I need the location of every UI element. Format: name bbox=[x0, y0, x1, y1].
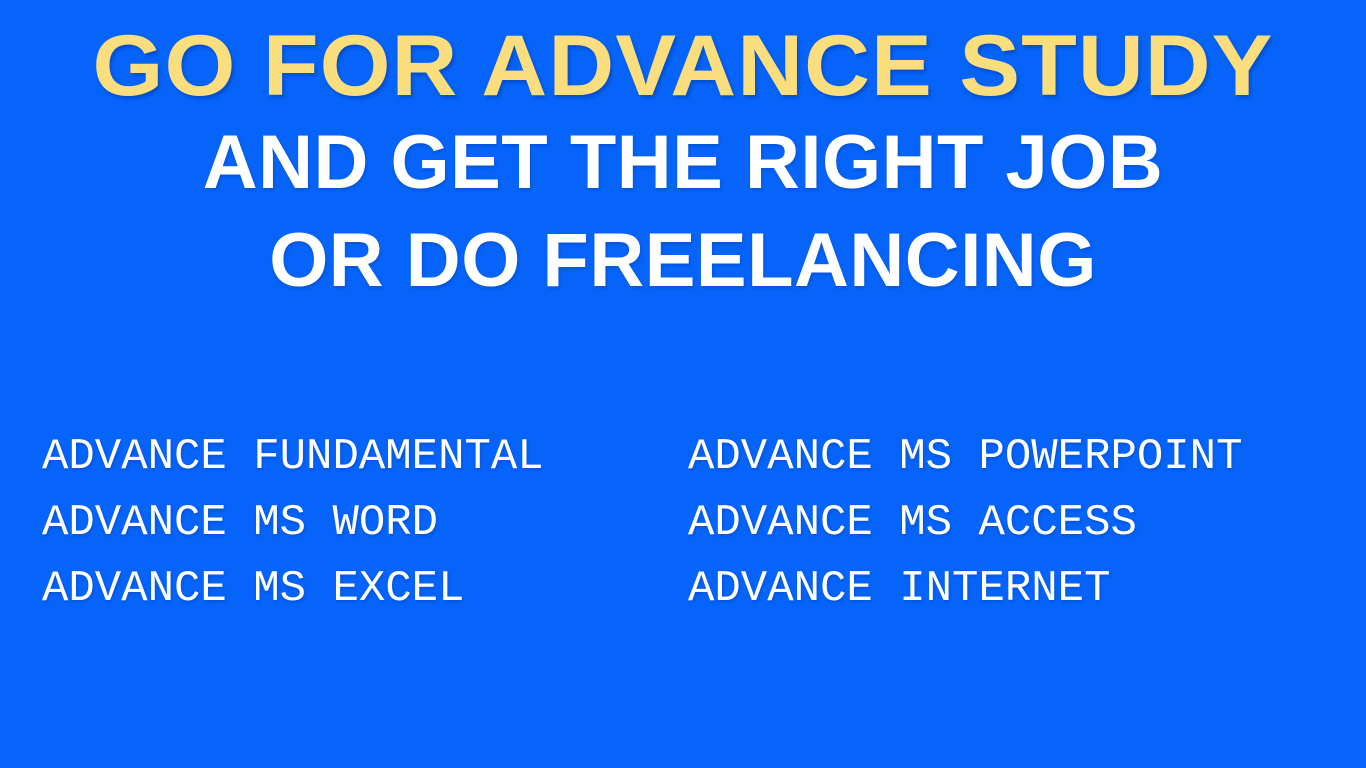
headline-secondary-line-2: OR DO FREELANCING bbox=[0, 212, 1366, 310]
course-item: ADVANCE FUNDAMENTAL bbox=[42, 424, 688, 490]
course-item: ADVANCE MS ACCESS bbox=[688, 490, 1332, 556]
slide-canvas: GO FOR ADVANCE STUDY AND GET THE RIGHT J… bbox=[0, 0, 1366, 768]
course-item: ADVANCE MS EXCEL bbox=[42, 556, 688, 622]
headline-secondary-line-1: AND GET THE RIGHT JOB bbox=[0, 114, 1366, 212]
course-item: ADVANCE INTERNET bbox=[688, 556, 1332, 622]
course-column-right: ADVANCE MS POWERPOINT ADVANCE MS ACCESS … bbox=[688, 424, 1332, 622]
course-column-left: ADVANCE FUNDAMENTAL ADVANCE MS WORD ADVA… bbox=[42, 424, 688, 622]
course-list: ADVANCE FUNDAMENTAL ADVANCE MS WORD ADVA… bbox=[42, 424, 1332, 622]
course-item: ADVANCE MS POWERPOINT bbox=[688, 424, 1332, 490]
course-item: ADVANCE MS WORD bbox=[42, 490, 688, 556]
headline-block: GO FOR ADVANCE STUDY AND GET THE RIGHT J… bbox=[0, 18, 1366, 310]
headline-primary: GO FOR ADVANCE STUDY bbox=[0, 18, 1366, 114]
